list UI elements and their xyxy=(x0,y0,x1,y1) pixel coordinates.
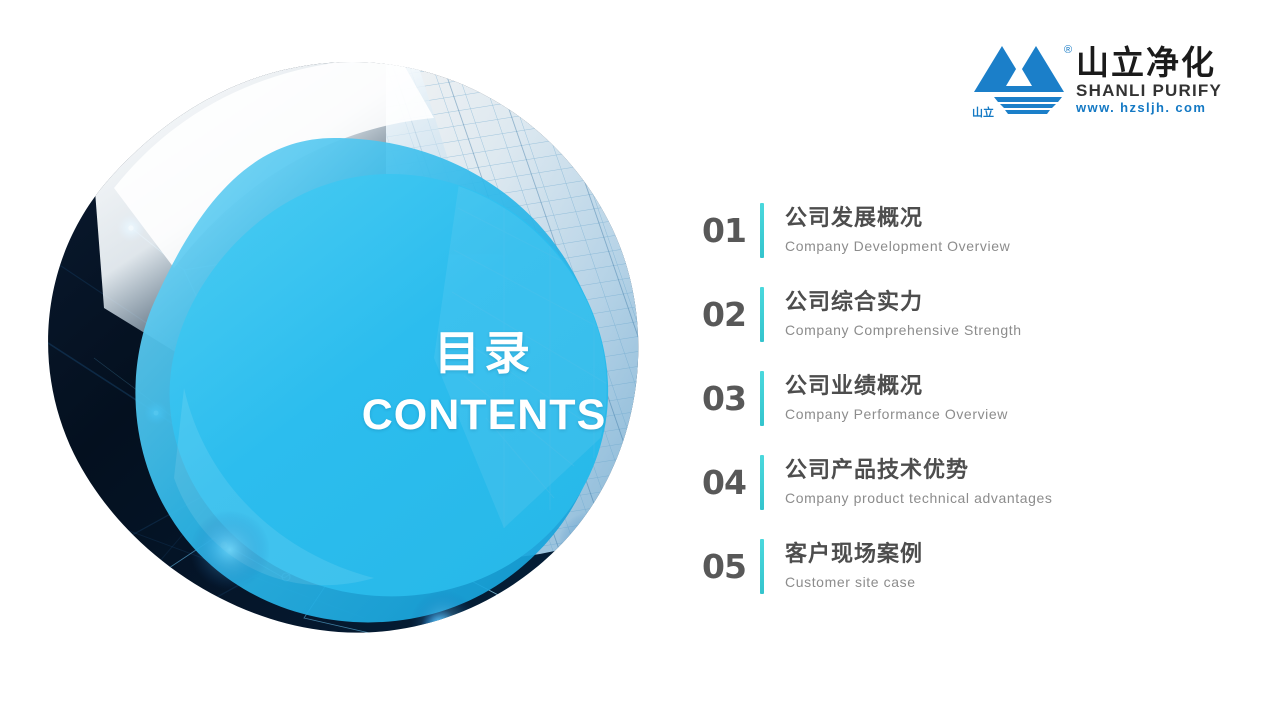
item-text-block: 公司发展概况 Company Development Overview xyxy=(785,205,1010,255)
item-text-block: 公司产品技术优势 Company product technical advan… xyxy=(785,457,1053,507)
item-title-en: Company Comprehensive Strength xyxy=(785,322,1022,339)
item-number: 03 xyxy=(702,379,760,418)
item-title-en: Customer site case xyxy=(785,574,923,591)
logo-name-en: SHANLI PURIFY xyxy=(1076,81,1222,101)
item-number: 01 xyxy=(702,211,760,250)
contents-item-05[interactable]: 05 客户现场案例 Customer site case xyxy=(702,532,1232,600)
slide-canvas: 目录 CONTENTS ® 山立 山立净化 SHANLI PURIFY xyxy=(0,0,1280,720)
item-title-en: Company product technical advantages xyxy=(785,490,1053,507)
item-title-cn: 公司综合实力 xyxy=(785,289,1022,317)
contents-item-02[interactable]: 02 公司综合实力 Company Comprehensive Strength xyxy=(702,280,1232,348)
item-text-block: 公司综合实力 Company Comprehensive Strength xyxy=(785,289,1022,339)
logo-website-url: www. hzsljh. com xyxy=(1076,100,1206,116)
logo-name-cn: 山立净化 xyxy=(1076,46,1216,81)
contents-item-04[interactable]: 04 公司产品技术优势 Company product technical ad… xyxy=(702,448,1232,516)
item-title-cn: 公司发展概况 xyxy=(785,205,1010,233)
hero-blob-illustration xyxy=(34,58,654,636)
item-accent-bar xyxy=(760,371,764,426)
item-title-en: Company Performance Overview xyxy=(785,406,1008,423)
item-accent-bar xyxy=(760,203,764,258)
registered-trademark-icon: ® xyxy=(1064,44,1072,56)
contents-list: 01 公司发展概况 Company Development Overview 0… xyxy=(702,196,1232,600)
item-number: 05 xyxy=(702,547,760,586)
item-number: 02 xyxy=(702,295,760,334)
item-title-en: Company Development Overview xyxy=(785,238,1010,255)
item-accent-bar xyxy=(760,287,764,342)
logo-mark-label-cn: 山立 xyxy=(972,108,994,119)
item-number: 04 xyxy=(702,463,760,502)
item-title-cn: 客户现场案例 xyxy=(785,541,923,569)
contents-item-03[interactable]: 03 公司业绩概况 Company Performance Overview xyxy=(702,364,1232,432)
contents-item-01[interactable]: 01 公司发展概况 Company Development Overview xyxy=(702,196,1232,264)
item-text-block: 客户现场案例 Customer site case xyxy=(785,541,923,591)
contents-hero-graphic: 目录 CONTENTS xyxy=(34,58,654,636)
item-accent-bar xyxy=(760,455,764,510)
item-title-cn: 公司业绩概况 xyxy=(785,373,1008,401)
logo-mark-mountains: ® 山立 xyxy=(972,40,1070,118)
item-title-cn: 公司产品技术优势 xyxy=(785,457,1053,485)
item-accent-bar xyxy=(760,539,764,594)
company-logo: ® 山立 山立净化 SHANLI PURIFY www. hzsljh. com xyxy=(972,38,1222,118)
item-text-block: 公司业绩概况 Company Performance Overview xyxy=(785,373,1008,423)
logo-text-block: 山立净化 SHANLI PURIFY www. hzsljh. com xyxy=(1076,46,1222,118)
